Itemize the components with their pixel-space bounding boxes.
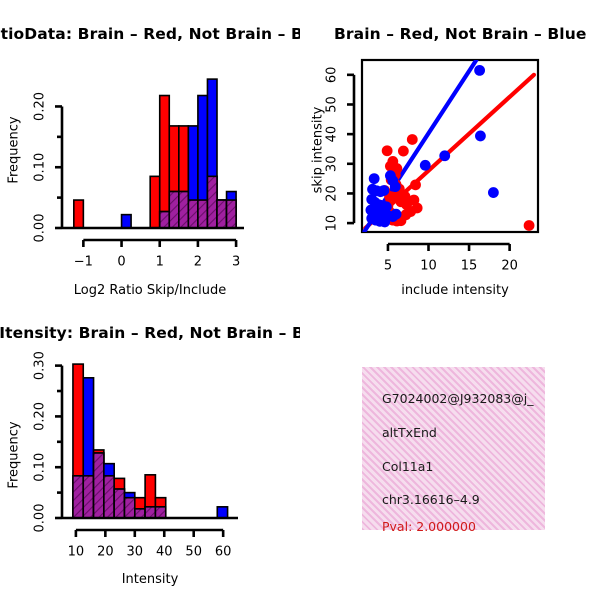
- hist-bar-overlap: [160, 212, 170, 228]
- intensity-histogram-xlabel: Intensity: [122, 572, 179, 587]
- intensity-histogram-title: ne Itensity: Brain – Red, Not Brain – B: [0, 324, 300, 342]
- scatter-point: [409, 195, 420, 206]
- scatter-point: [369, 173, 380, 184]
- x-tick-label: 20: [97, 545, 114, 560]
- scatter-point: [382, 145, 393, 156]
- hist-bar-overlap: [114, 489, 124, 518]
- hist-bar-blue: [217, 507, 227, 518]
- scatter-point: [410, 179, 421, 190]
- scatter-point: [378, 185, 389, 196]
- scatter-xlabel: include intensity: [401, 283, 509, 298]
- x-tick-label: 0: [117, 255, 125, 270]
- y-tick-label: 0.20: [33, 92, 48, 121]
- scatter-point: [488, 187, 499, 198]
- x-tick-label: 10: [420, 259, 437, 274]
- scatter-point: [474, 65, 485, 76]
- scatter-plot: 1020304050605101520: [300, 0, 600, 310]
- ratio-histogram-ylabel: Frequency: [7, 116, 22, 183]
- hist-bar-overlap: [124, 498, 134, 518]
- scatter-point: [475, 131, 486, 142]
- x-tick-label: 10: [68, 545, 85, 560]
- ratio-histogram-xlabel: Log2 Ratio Skip/Include: [74, 283, 226, 298]
- scatter-point: [379, 217, 390, 228]
- y-tick-label: 20: [325, 185, 340, 202]
- hist-bar-overlap: [135, 509, 145, 518]
- x-tick-label: 3: [232, 255, 240, 270]
- hist-bar-overlap: [145, 507, 155, 518]
- y-tick-label: 0.10: [33, 453, 48, 482]
- info-gene: Col11a1: [382, 459, 433, 474]
- y-tick-label: 30: [325, 156, 340, 173]
- info-event-type: altTxEnd: [382, 425, 437, 440]
- scatter-point: [439, 150, 450, 161]
- hist-bar-overlap: [155, 507, 165, 518]
- y-tick-label: 0.20: [33, 402, 48, 431]
- x-tick-label: 50: [185, 545, 202, 560]
- scatter-point: [391, 209, 402, 220]
- y-tick-label: 0.10: [33, 153, 48, 182]
- y-tick-label: 50: [325, 96, 340, 113]
- info-locus: chr3.16616–4.9: [382, 492, 480, 507]
- x-tick-label: 5: [384, 259, 392, 274]
- y-tick-label: 60: [325, 67, 340, 84]
- scatter-point: [420, 160, 431, 171]
- x-tick-label: 60: [215, 545, 232, 560]
- x-tick-label: −1: [74, 255, 93, 270]
- scatter-point: [407, 134, 418, 145]
- hist-bar-overlap: [217, 200, 227, 228]
- scatter-point: [385, 170, 396, 181]
- hist-bar-overlap: [198, 200, 208, 228]
- y-tick-label: 10: [325, 215, 340, 232]
- x-tick-label: 20: [501, 259, 518, 274]
- x-tick-label: 2: [194, 255, 202, 270]
- x-tick-label: 30: [127, 545, 144, 560]
- event-info-panel: G7024002@J932083@j_ altTxEnd Col11a1 chr…: [362, 367, 545, 530]
- ratio-histogram-panel: RatioData: Brain – Red, Not Brain – Blu …: [0, 0, 300, 310]
- hist-bar-overlap: [179, 192, 189, 228]
- intensity-histogram-panel: ne Itensity: Brain – Red, Not Brain – B …: [0, 310, 300, 600]
- x-tick-label: 15: [461, 259, 478, 274]
- scatter-point: [524, 220, 535, 231]
- hist-bar-overlap: [207, 176, 217, 228]
- y-tick-label: 40: [325, 126, 340, 143]
- y-tick-label: 0.00: [33, 504, 48, 533]
- ratio-histogram-title: RatioData: Brain – Red, Not Brain – Blu: [0, 25, 300, 43]
- ratio-histogram-plot: 0.000.100.20−10123: [0, 0, 300, 310]
- hist-bar-overlap: [94, 453, 104, 518]
- hist-bar-overlap: [188, 200, 198, 228]
- hist-bar-overlap: [169, 192, 179, 228]
- scatter-point: [405, 206, 416, 217]
- y-tick-label: 0.30: [33, 351, 48, 380]
- scatter-title: Brain – Red, Not Brain – Blue: [334, 25, 586, 43]
- intensity-histogram-plot: 0.000.100.200.30102030405060: [0, 310, 300, 600]
- hist-bar-overlap: [83, 476, 93, 518]
- intensity-histogram-ylabel: Frequency: [7, 421, 22, 488]
- y-tick-label: 0.00: [33, 214, 48, 243]
- scatter-point: [398, 146, 409, 157]
- info-event-id: G7024002@J932083@j_: [382, 391, 533, 406]
- hist-bar-red: [150, 176, 160, 228]
- x-tick-label: 40: [156, 545, 173, 560]
- scatter-ylabel: skip intensity: [311, 107, 326, 194]
- hist-bar-red: [160, 96, 170, 228]
- hist-bar-overlap: [227, 200, 237, 228]
- hist-bar-blue: [122, 215, 132, 228]
- hist-bar-overlap: [73, 476, 83, 518]
- info-pval: Pval: 2.000000: [382, 519, 476, 534]
- x-tick-label: 1: [156, 255, 164, 270]
- hist-bar-overlap: [104, 476, 114, 518]
- hist-bar-red: [74, 200, 84, 228]
- scatter-panel: Brain – Red, Not Brain – Blue 1020304050…: [300, 0, 600, 310]
